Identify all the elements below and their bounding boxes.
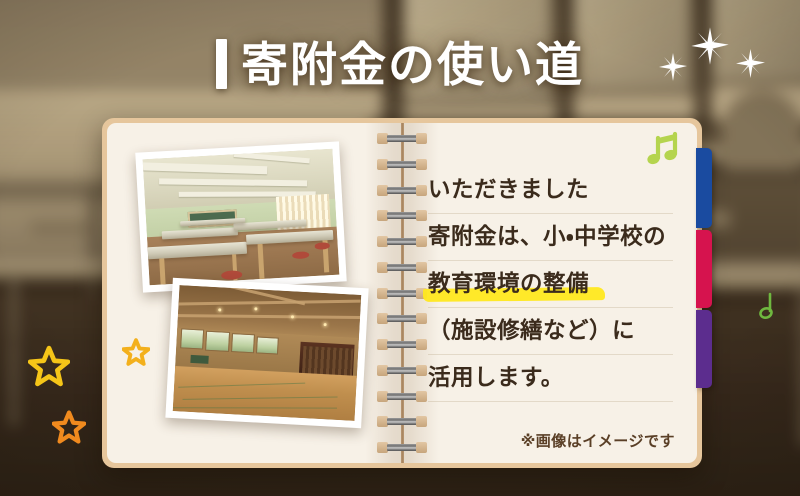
- ring-wire: [387, 212, 417, 219]
- donation-usage-text: いただきました 寄附金は、小・中学校の 教育環境の整備 （施設修繕など）に 活用…: [428, 167, 673, 402]
- classroom-scene: [143, 149, 340, 285]
- ring-wire: [387, 315, 417, 322]
- sparkle-icon-2: [690, 26, 730, 66]
- page-title-text: 寄附金の使い道: [241, 41, 584, 88]
- notebook-left-page: [107, 123, 402, 463]
- ring-cap-right: [416, 262, 427, 273]
- classroom-photo: [135, 141, 346, 292]
- text-line-content: いただきました: [428, 172, 589, 208]
- index-tab-red[interactable]: [696, 230, 712, 308]
- gymnasium-floor: [173, 366, 357, 421]
- spiral-ring: [377, 210, 427, 221]
- ring-wire: [387, 341, 417, 348]
- notebook-page-spread: いただきました 寄附金は、小・中学校の 教育環境の整備 （施設修繕など）に 活用…: [107, 123, 697, 463]
- spiral-ring: [377, 416, 427, 427]
- index-tabs: [696, 148, 712, 388]
- ring-cap-right: [416, 210, 427, 221]
- text-line-content: 活用します。: [428, 360, 564, 396]
- text-line-content: （施設修繕など）に: [428, 313, 635, 349]
- text-line: 寄附金は、小・中学校の: [428, 214, 673, 261]
- gymnasium-photo: [165, 278, 368, 428]
- text-line: いただきました: [428, 167, 673, 214]
- ring-cap-right: [416, 236, 427, 247]
- ring-wire: [387, 264, 417, 271]
- ring-wire: [387, 367, 417, 374]
- spiral-ring: [377, 236, 427, 247]
- image-disclaimer-caption: ※画像はイメージです: [521, 430, 675, 451]
- screenshot-root: 寄附金の使い道: [0, 0, 800, 496]
- ring-wire: [387, 161, 417, 168]
- ring-cap-right: [416, 442, 427, 453]
- ring-wire: [387, 238, 417, 245]
- spiral-ring: [377, 365, 427, 376]
- gymnasium-lamp-4: [323, 323, 326, 326]
- gymnasium-window-3: [231, 333, 256, 353]
- spiral-ring: [377, 442, 427, 453]
- spiral-ring: [377, 185, 427, 196]
- text-line: 活用します。: [428, 355, 673, 402]
- gymnasium-window-1: [180, 328, 205, 349]
- index-tab-purple[interactable]: [696, 310, 712, 388]
- ring-cap-right: [416, 339, 427, 350]
- star-icon-orange: [52, 410, 86, 444]
- ring-wire: [387, 418, 417, 425]
- sparkle-icon-1: [658, 52, 688, 82]
- ring-cap-right: [416, 185, 427, 196]
- ring-wire: [387, 290, 417, 297]
- spiral-ring: [377, 391, 427, 402]
- ring-wire: [387, 135, 417, 142]
- spiral-ring: [377, 159, 427, 170]
- gymnasium-scene: [173, 285, 362, 421]
- star-icon-amber: [122, 338, 150, 366]
- star-icon-gold: [28, 345, 70, 387]
- gymnasium-window-2: [205, 331, 230, 352]
- music-note-icon-green: [758, 292, 776, 327]
- ring-cap-right: [416, 365, 427, 376]
- gymnasium-wall-board: [190, 355, 209, 364]
- ring-cap-right: [416, 313, 427, 324]
- text-line: （施設修繕など）に: [428, 308, 673, 355]
- spiral-ring: [377, 313, 427, 324]
- spiral-ring: [377, 262, 427, 273]
- ring-wire: [387, 187, 417, 194]
- gymnasium-lamp-3: [291, 315, 294, 318]
- spiral-ring: [377, 288, 427, 299]
- text-line-content-highlighted: 教育環境の整備: [428, 266, 589, 302]
- ring-cap-right: [416, 133, 427, 144]
- ring-cap-right: [416, 391, 427, 402]
- ring-wire: [387, 393, 417, 400]
- spiral-ring: [377, 133, 427, 144]
- gymnasium-photo-image: [173, 285, 362, 421]
- classroom-photo-image: [143, 149, 340, 285]
- gymnasium-stage-curtain: [302, 346, 353, 376]
- text-line-content: 寄附金は、小・中学校の: [428, 219, 666, 255]
- ring-cap-right: [416, 416, 427, 427]
- index-tab-blue[interactable]: [696, 148, 712, 228]
- notebook: いただきました 寄附金は、小・中学校の 教育環境の整備 （施設修繕など）に 活用…: [102, 118, 702, 468]
- notebook-right-page: いただきました 寄附金は、小・中学校の 教育環境の整備 （施設修繕など）に 活用…: [402, 123, 697, 463]
- ring-wire: [387, 444, 417, 451]
- music-note-icon: [639, 131, 681, 176]
- ring-cap-right: [416, 159, 427, 170]
- gymnasium-window-4: [256, 336, 279, 355]
- spiral-ring: [377, 339, 427, 350]
- text-line: 教育環境の整備: [428, 261, 673, 308]
- sparkle-icon-3: [735, 48, 766, 79]
- title-accent-bar: [216, 39, 227, 89]
